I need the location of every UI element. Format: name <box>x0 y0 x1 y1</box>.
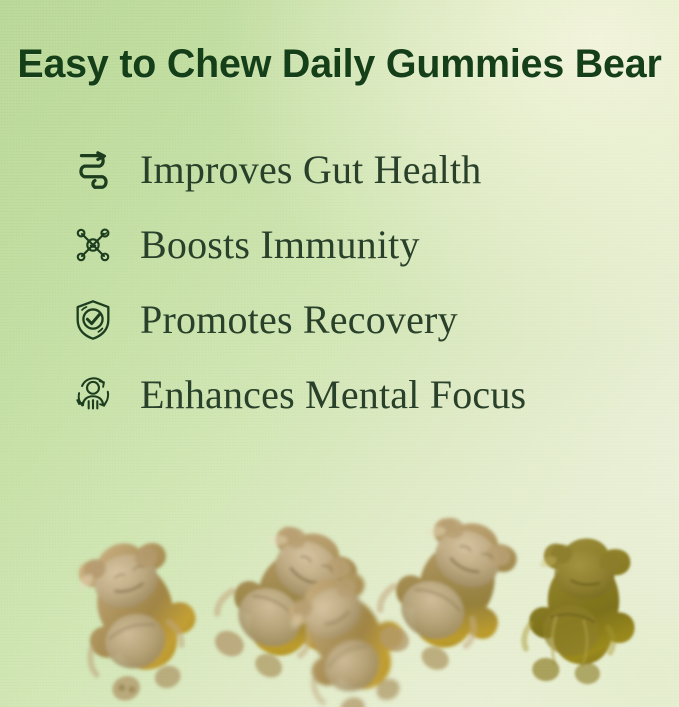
benefit-item-gut-health: Improves Gut Health <box>66 132 666 207</box>
benefit-label: Improves Gut Health <box>140 150 482 190</box>
gummy-bear <box>521 535 640 688</box>
gummy-bears-illustration <box>0 440 679 707</box>
product-photo-gummy-bears <box>0 440 679 707</box>
benefit-label: Boosts Immunity <box>140 225 420 265</box>
benefit-item-mental-focus: Enhances Mental Focus <box>66 357 666 432</box>
molecule-cell-icon <box>66 218 120 272</box>
benefit-label: Enhances Mental Focus <box>140 375 526 415</box>
benefit-item-recovery: Promotes Recovery <box>66 282 666 357</box>
person-refresh-cycle-icon <box>66 368 120 422</box>
intestine-gut-icon <box>66 143 120 197</box>
gummy-bear <box>58 528 214 707</box>
product-poster: Easy to Chew Daily Gummies Bear Improves… <box>0 0 679 707</box>
shield-check-icon <box>66 293 120 347</box>
benefit-label: Promotes Recovery <box>140 300 458 340</box>
page-title: Easy to Chew Daily Gummies Bear <box>5 44 674 84</box>
benefit-item-immunity: Boosts Immunity <box>66 207 666 282</box>
benefits-list: Improves Gut Health Boost <box>66 132 666 432</box>
